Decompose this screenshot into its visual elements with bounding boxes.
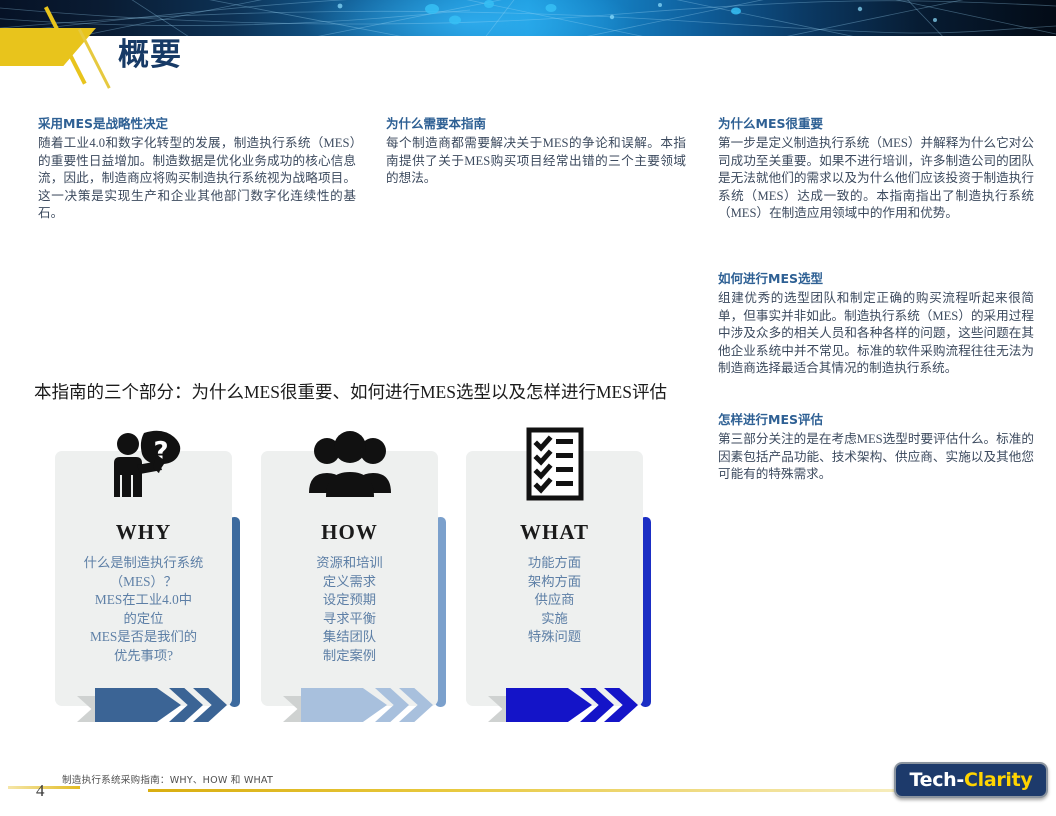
section-why-guide: 为什么需要本指南 每个制造商都需要解决关于MES的争论和误解。本指南提供了关于M… <box>386 113 686 188</box>
arrow-primary <box>506 688 592 722</box>
card-title: WHAT <box>466 520 643 545</box>
section-heading: 如何进行MES选型 <box>718 268 1034 287</box>
section-heading: 为什么MES很重要 <box>718 113 1034 132</box>
card-line: 供应商 <box>472 591 637 610</box>
card-icon-slot: ? <box>55 422 232 506</box>
card-line: 设定预期 <box>267 591 432 610</box>
card-why[interactable]: ? WHY 什么是制造执行系统 （MES）？ MES在工业4.0中 的定位 ME… <box>55 432 245 727</box>
card-arrow-strip <box>488 688 648 722</box>
three-parts-headline: 本指南的三个部分：为什么MES很重要、如何进行MES选型以及怎样进行MES评估 <box>34 379 667 404</box>
card-line: MES在工业4.0中 <box>61 591 226 610</box>
section-body: 第一步是定义制造执行系统（MES）并解释为什么它对公司成功至关重要。如果不进行培… <box>718 135 1034 223</box>
logo-text-tech: Tech- <box>909 769 964 791</box>
card-icon-slot <box>261 422 438 506</box>
card-line: 的定位 <box>61 610 226 629</box>
page-number: 4 <box>36 781 45 801</box>
card-lines: 功能方面 架构方面 供应商 实施 特殊问题 <box>472 554 637 647</box>
tech-clarity-logo: Tech-Clarity <box>894 762 1048 798</box>
section-how-to-evaluate: 怎样进行MES评估 第三部分关注的是在考虑MES选型时要评估什么。标准的因素包括… <box>718 409 1034 484</box>
card-line: （MES）？ <box>61 573 226 592</box>
page-title: 概要 <box>118 29 182 74</box>
section-heading: 采用MES是战略性决定 <box>38 113 356 132</box>
card-line: 寻求平衡 <box>267 610 432 629</box>
card-what[interactable]: WHAT 功能方面 架构方面 供应商 实施 特殊问题 <box>466 432 656 727</box>
section-body: 每个制造商都需要解决关于MES的争论和误解。本指南提供了关于MES购买项目经常出… <box>386 135 686 188</box>
card-line: 制定案例 <box>267 647 432 666</box>
section-body: 随着工业4.0和数字化转型的发展，制造执行系统（MES）的重要性日益增加。制造数… <box>38 135 356 223</box>
card-line: MES是否是我们的 <box>61 628 226 647</box>
card-arrow-strip <box>283 688 443 722</box>
section-body: 第三部分关注的是在考虑MES选型时要评估什么。标准的因素包括产品功能、技术架构、… <box>718 431 1034 484</box>
arrow-primary <box>301 688 387 722</box>
card-lines: 什么是制造执行系统 （MES）？ MES在工业4.0中 的定位 MES是否是我们… <box>61 554 226 665</box>
card-icon-slot <box>466 422 643 506</box>
card-line: 优先事项? <box>61 647 226 666</box>
logo-text-clarity: Clarity <box>964 769 1033 791</box>
section-heading: 怎样进行MES评估 <box>718 409 1034 428</box>
card-line: 定义需求 <box>267 573 432 592</box>
footer-rule <box>148 789 908 792</box>
section-adopting-mes: 采用MES是战略性决定 随着工业4.0和数字化转型的发展，制造执行系统（MES）… <box>38 113 356 223</box>
section-why-mes-matters: 为什么MES很重要 第一步是定义制造执行系统（MES）并解释为什么它对公司成功至… <box>718 113 1034 223</box>
people-group-icon <box>307 431 393 497</box>
card-title: HOW <box>261 520 438 545</box>
section-how-to-select: 如何进行MES选型 组建优秀的选型团队和制定正确的购买流程听起来很简单，但事实并… <box>718 268 1034 378</box>
card-how[interactable]: HOW 资源和培训 定义需求 设定预期 寻求平衡 集结团队 制定案例 <box>261 432 451 727</box>
card-lines: 资源和培训 定义需求 设定预期 寻求平衡 集结团队 制定案例 <box>267 554 432 665</box>
checklist-icon <box>525 427 585 501</box>
card-line: 什么是制造执行系统 <box>61 554 226 573</box>
section-body: 组建优秀的选型团队和制定正确的购买流程听起来很简单，但事实并非如此。制造执行系统… <box>718 290 1034 378</box>
footer-text: 制造执行系统采购指南：WHY、HOW 和 WHAT <box>62 772 273 786</box>
section-heading: 为什么需要本指南 <box>386 113 686 132</box>
person-question-icon: ? <box>104 427 184 501</box>
card-line: 功能方面 <box>472 554 637 573</box>
card-line: 集结团队 <box>267 628 432 647</box>
card-line: 架构方面 <box>472 573 637 592</box>
card-line: 实施 <box>472 610 637 629</box>
card-line: 资源和培训 <box>267 554 432 573</box>
arrow-primary <box>95 688 181 722</box>
cards-row: ? WHY 什么是制造执行系统 （MES）？ MES在工业4.0中 的定位 ME… <box>55 432 675 727</box>
card-arrow-strip <box>77 688 237 722</box>
card-line: 特殊问题 <box>472 628 637 647</box>
card-title: WHY <box>55 520 232 545</box>
